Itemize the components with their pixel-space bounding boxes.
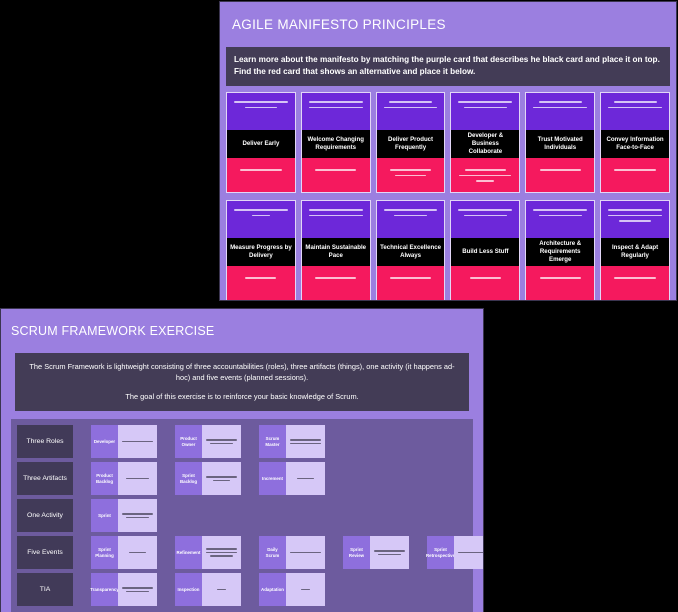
placeholder-line [290,443,321,445]
placeholder-line [122,441,153,443]
placeholder-line [540,169,581,171]
placeholder-line [252,215,271,217]
scrum-term-card[interactable]: Daily Scrum [259,536,286,569]
scrum-row-label: Three Artifacts [17,462,73,495]
agile-card-purple-slot[interactable] [227,201,295,238]
agile-principle-card[interactable]: Deliver Early [226,92,296,193]
scrum-answer-slot[interactable] [286,573,325,606]
agile-card-black-principle: Convey Information Face-to-Face [601,130,669,158]
agile-principle-card[interactable]: Convey Information Face-to-Face [600,92,670,193]
placeholder-line [301,589,311,591]
scrum-answer-slot[interactable] [202,425,241,458]
scrum-term-card[interactable]: Adaptation [259,573,286,606]
placeholder-line [540,277,581,279]
scrum-term-card[interactable]: Increment [259,462,286,495]
scrum-term-card[interactable]: Product Owner [175,425,202,458]
agile-principle-card[interactable]: Technical Excellence Always [376,200,446,301]
scrum-term-card[interactable]: Transparency [91,573,118,606]
scrum-slot-pair[interactable]: Adaptation [259,573,325,606]
placeholder-line [245,277,276,279]
placeholder-line [465,169,506,171]
placeholder-line [608,209,662,211]
agile-card-purple-slot[interactable] [302,201,370,238]
placeholder-line [234,209,288,211]
placeholder-line [614,101,657,103]
placeholder-line [234,101,288,103]
agile-principle-label: Technical Excellence Always [380,244,442,260]
agile-card-red-slot[interactable] [377,266,445,300]
scrum-exercise-row: Three RolesDeveloperProduct OwnerScrum M… [17,425,469,462]
placeholder-line [240,169,281,171]
agile-principle-card[interactable]: Build Less Stuff [450,200,520,301]
placeholder-line [395,175,426,177]
agile-card-black-principle: Deliver Product Frequently [377,130,445,158]
scrum-exercise-row: TIATransparencyInspectionAdaptation [17,573,469,610]
placeholder-line [374,550,405,552]
placeholder-line [394,215,426,217]
agile-card-purple-slot[interactable] [302,93,370,130]
placeholder-line [458,209,512,211]
agile-card-red-slot[interactable] [526,266,594,300]
agile-principle-label: Trust Motivated Individuals [529,136,591,152]
scrum-slot-pair[interactable]: Product Backlog [91,462,157,495]
agile-principle-label: Deliver Early [242,140,279,148]
scrum-slot-pair[interactable]: Sprint Review [343,536,409,569]
scrum-answer-slot[interactable] [286,536,325,569]
scrum-slot-pair[interactable]: Product Owner [175,425,241,458]
placeholder-line [608,107,662,109]
placeholder-line [614,169,655,171]
agile-panel-header: AGILE MANIFESTO PRINCIPLES [220,2,676,47]
scrum-term-card[interactable]: Developer [91,425,118,458]
agile-card-row: Deliver EarlyWelcome Changing Requiremen… [226,92,670,193]
placeholder-line [129,552,147,554]
placeholder-line [315,277,356,279]
placeholder-line [619,220,651,222]
scrum-exercise-board: Three RolesDeveloperProduct OwnerScrum M… [11,419,473,612]
placeholder-line [315,169,356,171]
agile-card-red-slot[interactable] [302,158,370,192]
scrum-slot-pair[interactable]: Sprint Backlog [175,462,241,495]
placeholder-line [126,591,149,593]
agile-card-black-principle: Build Less Stuff [451,238,519,266]
scrum-term-card[interactable]: Sprint [91,499,118,532]
placeholder-line [459,175,511,177]
placeholder-line [217,589,227,591]
agile-card-red-slot[interactable] [601,158,669,192]
scrum-instructions-line-1: The Scrum Framework is lightweight consi… [25,361,459,383]
placeholder-line [206,552,237,554]
placeholder-line [384,107,438,109]
scrum-framework-panel: SCRUM FRAMEWORK EXERCISE The Scrum Frame… [0,308,484,612]
agile-card-purple-slot[interactable] [526,201,594,238]
agile-principle-label: Maintain Sustainable Pace [305,244,367,260]
scrum-answer-slot[interactable] [118,425,157,458]
agile-card-black-principle: Architecture & Requirements Emerge [526,238,594,266]
agile-principle-card[interactable]: Developer & Business Collaborate [450,92,520,193]
agile-card-black-principle: Welcome Changing Requirements [302,130,370,158]
agile-card-purple-slot[interactable] [451,93,519,130]
agile-panel-title: AGILE MANIFESTO PRINCIPLES [232,17,446,32]
agile-instructions: Learn more about the manifesto by matchi… [226,47,670,86]
placeholder-line [297,478,315,480]
agile-card-purple-slot[interactable] [526,93,594,130]
scrum-exercise-row: Five EventsSprint PlanningRefinementDail… [17,536,469,573]
placeholder-line [464,215,507,217]
agile-card-black-principle: Trust Motivated Individuals [526,130,594,158]
agile-principle-card[interactable]: Deliver Product Frequently [376,92,446,193]
agile-card-red-slot[interactable] [451,158,519,192]
scrum-exercise-row: Three ArtifactsProduct BacklogSprint Bac… [17,462,469,499]
placeholder-line [290,552,321,554]
placeholder-line [389,101,432,103]
scrum-answer-slot[interactable] [118,573,157,606]
agile-card-purple-slot[interactable] [601,201,669,238]
scrum-slot-pair[interactable]: Refinement [175,536,241,569]
placeholder-line [464,107,507,109]
scrum-answer-slot[interactable] [286,425,325,458]
scrum-slot-pair[interactable]: Sprint Planning [91,536,157,569]
placeholder-line [309,107,363,109]
scrum-answer-slot[interactable] [202,536,241,569]
scrum-instructions-line-2: The goal of this exercise is to reinforc… [25,391,459,402]
agile-principle-card[interactable]: Trust Motivated Individuals [525,92,595,193]
agile-principle-card[interactable]: Maintain Sustainable Pace [301,200,371,301]
placeholder-line [309,209,363,211]
placeholder-line [309,101,363,103]
scrum-term-card[interactable]: Scrum Master [259,425,286,458]
placeholder-line [384,209,438,211]
placeholder-line [458,552,484,554]
agile-card-black-principle: Maintain Sustainable Pace [302,238,370,266]
placeholder-line [290,439,321,441]
scrum-term-card[interactable]: Inspection [175,573,202,606]
agile-card-row: Measure Progress by DeliveryMaintain Sus… [226,200,670,301]
scrum-answer-slot[interactable] [118,536,157,569]
agile-principle-card[interactable]: Measure Progress by Delivery [226,200,296,301]
scrum-slot-pair[interactable]: Sprint [91,499,157,532]
agile-card-red-slot[interactable] [227,266,295,300]
agile-principle-label: Developer & Business Collaborate [454,132,516,156]
placeholder-line [614,277,655,279]
scrum-term-card[interactable]: Sprint Planning [91,536,118,569]
scrum-slot-pair[interactable]: Inspection [175,573,241,606]
agile-principle-label: Convey Information Face-to-Face [604,136,666,152]
agile-card-black-principle: Developer & Business Collaborate [451,130,519,158]
agile-card-purple-slot[interactable] [377,93,445,130]
scrum-slot-pair[interactable]: Scrum Master [259,425,325,458]
agile-card-purple-slot[interactable] [227,93,295,130]
placeholder-line [539,215,582,217]
placeholder-line [378,554,401,556]
agile-principle-card[interactable]: Architecture & Requirements Emerge [525,200,595,301]
scrum-answer-slot[interactable] [118,499,157,532]
placeholder-line [213,480,231,482]
agile-principle-label: Deliver Product Frequently [380,136,442,152]
agile-principle-card[interactable]: Inspect & Adapt Regularly [600,200,670,301]
scrum-slot-pair[interactable]: Daily Scrum [259,536,325,569]
agile-card-black-principle: Technical Excellence Always [377,238,445,266]
placeholder-line [390,169,431,171]
scrum-panel-header: SCRUM FRAMEWORK EXERCISE [1,309,483,353]
scrum-answer-slot[interactable] [370,536,409,569]
agile-card-black-principle: Deliver Early [227,130,295,158]
agile-card-purple-slot[interactable] [601,93,669,130]
placeholder-line [458,101,512,103]
agile-principle-label: Inspect & Adapt Regularly [604,244,666,260]
scrum-answer-slot[interactable] [202,462,241,495]
scrum-exercise-row: One ActivitySprint [17,499,469,536]
scrum-term-card[interactable]: Sprint Backlog [175,462,202,495]
placeholder-line [470,277,501,279]
scrum-answer-slot[interactable] [454,536,484,569]
scrum-slot-pair[interactable]: Transparency [91,573,157,606]
scrum-term-card[interactable]: Sprint Retrospective [427,536,454,569]
scrum-slot-pair[interactable]: Developer [91,425,157,458]
agile-card-grid: Deliver EarlyWelcome Changing Requiremen… [226,92,670,301]
agile-principle-label: Architecture & Requirements Emerge [529,240,591,264]
scrum-answer-slot[interactable] [118,462,157,495]
scrum-row-label: Five Events [17,536,73,569]
placeholder-line [533,107,587,109]
agile-card-red-slot[interactable] [377,158,445,192]
placeholder-line [476,180,494,182]
placeholder-line [309,215,363,217]
agile-card-black-principle: Inspect & Adapt Regularly [601,238,669,266]
scrum-row-label: One Activity [17,499,73,532]
placeholder-line [533,209,587,211]
agile-card-red-slot[interactable] [526,158,594,192]
placeholder-line [122,513,153,515]
agile-principle-label: Build Less Stuff [462,248,508,256]
scrum-slot-pair[interactable]: Sprint Retrospective [427,536,484,569]
placeholder-line [608,215,662,217]
placeholder-line [206,476,237,478]
placeholder-line [126,478,149,480]
scrum-term-card[interactable]: Product Backlog [91,462,118,495]
scrum-answer-slot[interactable] [202,573,241,606]
scrum-slot-pair[interactable]: Increment [259,462,325,495]
placeholder-line [206,439,237,441]
scrum-term-card[interactable]: Refinement [175,536,202,569]
placeholder-line [245,107,277,109]
agile-card-black-principle: Measure Progress by Delivery [227,238,295,266]
placeholder-line [539,101,582,103]
scrum-answer-slot[interactable] [286,462,325,495]
agile-card-red-slot[interactable] [227,158,295,192]
agile-principle-label: Welcome Changing Requirements [305,136,367,152]
agile-principle-card[interactable]: Welcome Changing Requirements [301,92,371,193]
placeholder-line [210,555,233,557]
scrum-term-card[interactable]: Sprint Review [343,536,370,569]
screen-root: AGILE MANIFESTO PRINCIPLES Learn more ab… [0,0,678,612]
agile-card-red-slot[interactable] [302,266,370,300]
placeholder-line [126,517,149,519]
agile-card-red-slot[interactable] [601,266,669,300]
scrum-instructions: The Scrum Framework is lightweight consi… [15,353,469,411]
placeholder-line [210,443,233,445]
agile-card-red-slot[interactable] [451,266,519,300]
scrum-row-label: TIA [17,573,73,606]
agile-card-purple-slot[interactable] [451,201,519,238]
placeholder-line [206,548,237,550]
scrum-row-label: Three Roles [17,425,73,458]
agile-principle-label: Measure Progress by Delivery [230,244,292,260]
agile-manifesto-panel: AGILE MANIFESTO PRINCIPLES Learn more ab… [219,1,677,301]
scrum-panel-title: SCRUM FRAMEWORK EXERCISE [11,324,214,338]
placeholder-line [390,277,431,279]
placeholder-line [122,587,153,589]
agile-card-purple-slot[interactable] [377,201,445,238]
